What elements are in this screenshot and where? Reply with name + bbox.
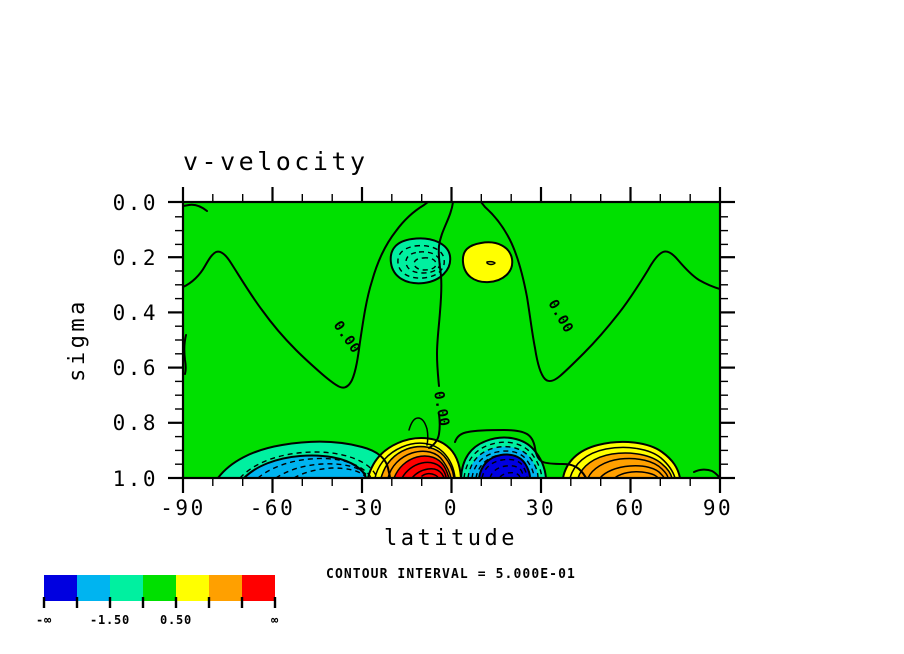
y-tick-label: 0.4 <box>113 301 158 325</box>
x-tick-label: -60 <box>250 496 295 520</box>
y-tick-label: 0.0 <box>113 191 158 215</box>
y-tick-label: 1.0 <box>113 467 158 491</box>
colorbar-label-high: 0.50 <box>160 613 192 627</box>
x-tick-label: 30 <box>526 496 556 520</box>
colorbar-segment-yellow <box>176 575 209 601</box>
colorbar-label-max: ∞ <box>271 613 279 627</box>
colorbar-segment-deep-blue <box>44 575 77 601</box>
x-tick-label: -30 <box>339 496 384 520</box>
y-tick-label: 0.2 <box>113 246 158 270</box>
y-axis-title: sigma <box>65 298 90 382</box>
y-tick-label: 0.6 <box>113 356 158 380</box>
colorbar-segment-green <box>143 575 176 601</box>
x-axis-title: latitude <box>384 526 518 551</box>
contour-plot-figure: v-velocity <box>0 0 904 654</box>
colorbar-segment-light-blue <box>77 575 110 601</box>
colorbar-segment-spring-green <box>110 575 143 601</box>
x-tick-label: -90 <box>160 496 205 520</box>
colorbar-segment-orange <box>209 575 242 601</box>
colorbar-segment-red <box>242 575 275 601</box>
colorbar-label-low: -1.50 <box>90 613 130 627</box>
x-tick-label: 60 <box>615 496 645 520</box>
plot-area: 0.00 0.00 0.00 <box>168 187 735 493</box>
page-title: v-velocity <box>183 147 369 176</box>
x-tick-label: 90 <box>703 496 733 520</box>
contour-interval-caption: CONTOUR INTERVAL = 5.000E-01 <box>326 567 576 582</box>
x-tick-label: 0 <box>444 496 459 520</box>
colorbar-label-min: -∞ <box>36 613 52 627</box>
y-tick-label: 0.8 <box>113 411 158 435</box>
contour-fill-background <box>183 202 720 478</box>
